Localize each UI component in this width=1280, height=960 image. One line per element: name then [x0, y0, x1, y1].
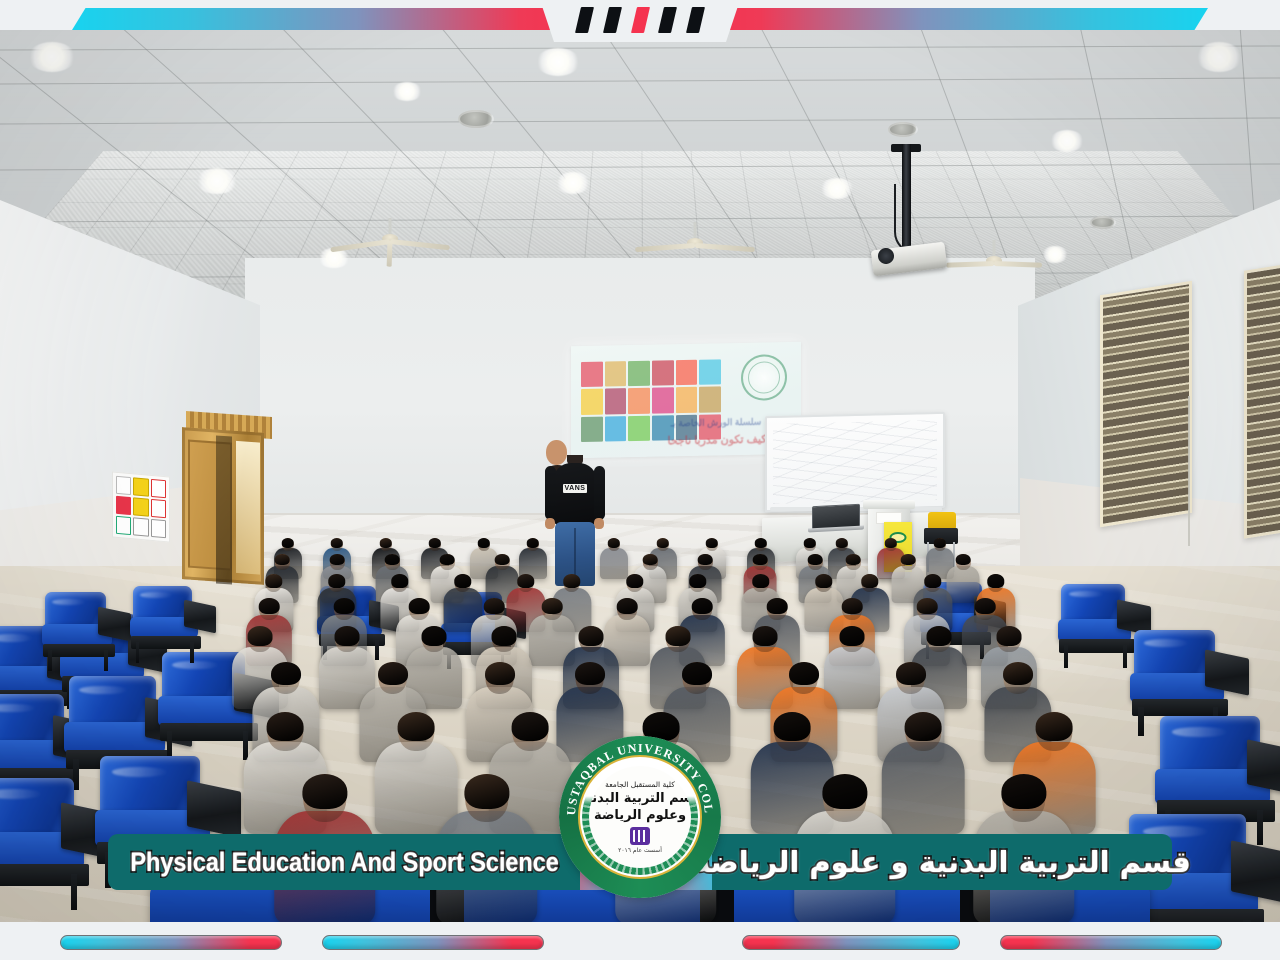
audience-member-hair — [885, 538, 897, 548]
audience-member-hair — [927, 626, 952, 646]
lecture-seat[interactable] — [128, 586, 204, 644]
notch-bar-dark — [658, 7, 677, 33]
window-blinds[interactable] — [1100, 281, 1192, 528]
slide-logo-icon — [741, 354, 787, 401]
sdg-tile — [581, 416, 603, 442]
audience-member-hair — [440, 554, 455, 565]
arabic-label-text: قسم التربية البدنية و علوم الرياضة — [693, 845, 1191, 879]
audience-member-hair — [1036, 712, 1073, 741]
sdg-tile — [628, 361, 650, 387]
downlight-icon — [1042, 246, 1068, 263]
audience-member-hair — [808, 554, 823, 565]
audience-member-hair — [934, 538, 946, 548]
presenter: VANS — [546, 440, 604, 586]
audience-member-hair — [752, 574, 769, 588]
audience-member-hair — [643, 554, 658, 565]
audience-member-hair — [997, 626, 1022, 646]
audience-member-hair — [328, 574, 345, 588]
downlight-icon — [556, 172, 590, 194]
ceiling-projector-icon — [880, 144, 940, 274]
audience-member-hair — [698, 554, 713, 565]
sdg-tile — [605, 388, 627, 414]
audience-member-hair — [987, 574, 1004, 588]
lecture-seat[interactable] — [0, 778, 94, 878]
audience-member-hair — [380, 538, 392, 548]
audience-member-hair — [608, 538, 620, 548]
sdg-tile — [605, 361, 627, 387]
audience-member-hair — [271, 662, 301, 685]
downlight-icon — [1050, 130, 1084, 152]
audience-member-hair — [478, 538, 490, 548]
audience-member-hair — [391, 574, 408, 588]
downlight-icon — [392, 82, 422, 101]
audience-member-hair — [429, 538, 441, 548]
audience-member-hair — [753, 626, 778, 646]
audience-member-hair — [789, 662, 819, 685]
window-blinds[interactable] — [1244, 261, 1280, 539]
sdg-tile — [699, 359, 721, 385]
lecture-seat[interactable] — [1152, 716, 1280, 814]
whiteboard — [765, 412, 945, 512]
audience-member-hair — [836, 538, 848, 548]
audience-member-hair — [334, 598, 355, 614]
audience-member-hair — [1001, 774, 1046, 809]
audience-member-hair — [335, 626, 360, 646]
ceiling-fan-icon — [944, 240, 1044, 280]
ceiling-fan-icon — [330, 218, 450, 264]
door-glass-panel — [236, 441, 260, 575]
audience-member-hair — [492, 626, 517, 646]
crest-emblem-icon — [630, 827, 650, 845]
lecture-seat[interactable] — [40, 592, 118, 652]
blinds-cord[interactable] — [1188, 396, 1190, 546]
audience-member-hair — [815, 574, 832, 588]
audience-member-hair — [924, 574, 941, 588]
audience-member-hair — [485, 662, 515, 685]
downlight-icon — [820, 178, 854, 199]
audience-member-hair — [575, 662, 605, 685]
audience-member-hair — [409, 598, 430, 614]
lecture-seat[interactable] — [1056, 584, 1138, 648]
sdg-tile — [628, 388, 650, 414]
screenshot-root: سلسلة الورش الخاصة بـ كيف تكون مدربا ناج… — [0, 0, 1280, 960]
accent-pill — [60, 935, 282, 950]
audience-member-hair — [840, 626, 865, 646]
audience-member-hair — [563, 574, 580, 588]
air-vent-icon — [888, 122, 918, 137]
audience-member-hair — [422, 626, 447, 646]
downlight-icon — [196, 168, 238, 194]
audience-member-hair — [454, 574, 471, 588]
notch-bar-dark — [575, 7, 594, 33]
audience-member-hair — [579, 626, 604, 646]
sdg-tile — [605, 416, 627, 442]
audience-member-hair — [484, 598, 505, 614]
sdg-tile — [581, 362, 603, 388]
audience-member-hair — [896, 662, 926, 685]
english-label-bar: Physical Education And Sport Science — [108, 834, 580, 890]
audience-member-hair — [692, 598, 713, 614]
audience-member-hair — [282, 538, 294, 548]
english-label-text: Physical Education And Sport Science — [130, 847, 558, 878]
audience-member-hair — [975, 598, 996, 614]
arabic-label-bar: قسم التربية البدنية و علوم الرياضة — [712, 834, 1172, 890]
audience-member-hair — [275, 554, 290, 565]
safety-signage-poster — [112, 471, 170, 542]
sdg-tile — [676, 360, 698, 386]
audience-member-hair — [248, 626, 273, 646]
audience-member-hair — [917, 598, 938, 614]
audience-member-hair — [302, 774, 347, 809]
sdg-tile — [699, 387, 721, 413]
sdg-tile — [581, 389, 603, 415]
presenter-shirt-logo: VANS — [563, 484, 587, 493]
top-center-bar-group — [578, 6, 702, 34]
accent-pill — [322, 935, 544, 950]
audience-member-hair — [330, 554, 345, 565]
audience-member-hair — [378, 662, 408, 685]
door-opening-shadow — [216, 435, 232, 584]
audience-member-hair — [706, 538, 718, 548]
audience-member-hair — [527, 538, 539, 548]
air-vent-icon — [1090, 216, 1116, 229]
audience-member-hair — [682, 662, 712, 685]
sdg-tile — [652, 360, 674, 386]
audience-member-hair — [767, 598, 788, 614]
crest-arabic-subtitle: كلية المستقبل الجامعة — [605, 780, 675, 789]
downlight-icon — [1196, 42, 1242, 72]
audience-member-hair — [846, 554, 861, 565]
audience-member-hair — [617, 598, 638, 614]
notch-bar-accent — [630, 7, 649, 33]
accent-pill — [1000, 935, 1222, 950]
audience-member-hair — [666, 626, 691, 646]
audience-member-hair — [804, 538, 816, 548]
sdg-tile — [652, 388, 674, 414]
audience-member-hair — [657, 538, 669, 548]
audience-member-hair — [464, 774, 509, 809]
bottom-pill-group — [0, 934, 1280, 950]
audience-member-hair — [512, 712, 549, 741]
audience-member-hair — [689, 574, 706, 588]
audience-member-hair — [265, 574, 282, 588]
accent-pill — [742, 935, 960, 950]
top-accent-bar-right — [688, 8, 1208, 30]
downlight-icon — [536, 48, 580, 76]
university-crest-logo: AL-MUSTAQBAL UNIVERSITY COLLEGE كلية الم… — [559, 736, 721, 898]
audience-member-hair — [331, 538, 343, 548]
sdg-tile — [676, 387, 698, 413]
downlight-icon — [28, 42, 76, 72]
audience-member-hair — [774, 712, 811, 741]
audience-member-hair — [901, 554, 916, 565]
audience-member-hair — [495, 554, 510, 565]
audience-member-hair — [956, 554, 971, 565]
ceiling-fan-icon — [640, 222, 750, 266]
audience-member-hair — [385, 554, 400, 565]
audience-member-hair — [398, 712, 435, 741]
audience-member-hair — [861, 574, 878, 588]
crest-arabic-line-1: قسم التربية البدنية — [589, 791, 691, 807]
audience-member-hair — [259, 598, 280, 614]
notch-bar-dark — [603, 7, 622, 33]
audience-member-hair — [753, 554, 768, 565]
audience-member-hair — [842, 598, 863, 614]
audience-member-hair — [517, 574, 534, 588]
audience-member-hair — [542, 598, 563, 614]
top-accent-bar-left — [72, 8, 592, 30]
presenter-tshirt — [553, 463, 597, 525]
audience-member-hair — [905, 712, 942, 741]
crest-arabic-line-2: وعلوم الرياضة — [594, 808, 686, 824]
laptop-icon[interactable] — [812, 504, 860, 531]
audience-member-hair — [1003, 662, 1033, 685]
air-vent-icon — [458, 110, 494, 128]
audience-member-hair — [267, 712, 304, 741]
audience-member-hair — [822, 774, 867, 809]
audience-member-hair — [626, 574, 643, 588]
lecture-seat[interactable] — [1128, 630, 1232, 710]
crest-founded-text: أسست عام ٢٠١٦ — [618, 847, 662, 854]
audience-member-hair — [755, 538, 767, 548]
